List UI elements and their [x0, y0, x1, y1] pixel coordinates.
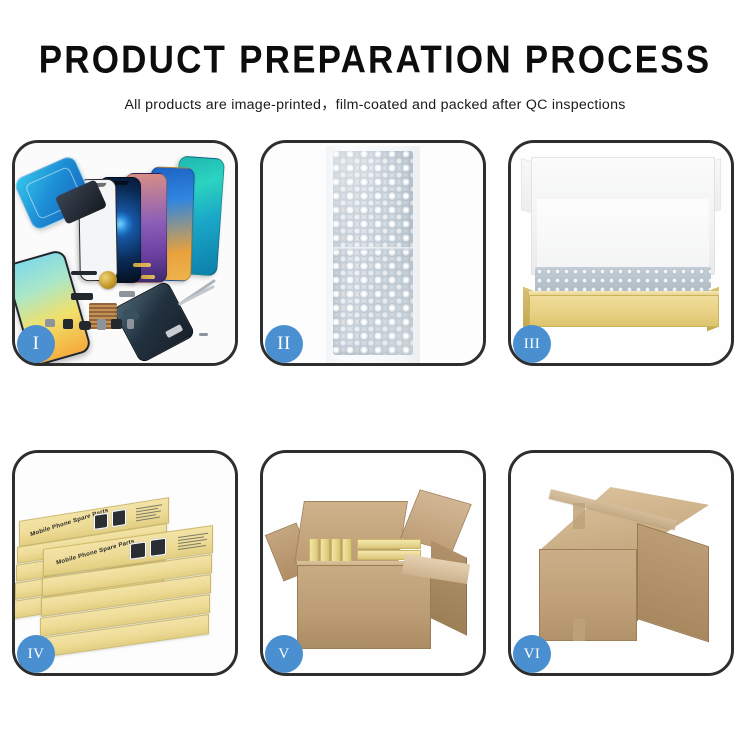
connector-strip-icon: [71, 293, 93, 300]
packing-tape-lower-seam-icon: [573, 619, 585, 641]
step-5-badge: V: [265, 635, 303, 673]
kraft-box-front-icon: [529, 295, 719, 327]
product-preparation-infographic: PRODUCT PREPARATION PROCESS All products…: [0, 0, 750, 750]
button-set-icon: [127, 319, 134, 329]
carton-front-panel-icon: [297, 565, 431, 649]
step-1-badge: I: [17, 325, 55, 363]
step-6-badge: VI: [513, 635, 551, 673]
earpiece-mesh-icon: [71, 271, 97, 275]
process-step-grid: I II: [12, 140, 738, 676]
sim-tray-icon: [97, 319, 106, 330]
page-title: PRODUCT PREPARATION PROCESS: [0, 38, 750, 83]
pouch-sheen: [333, 151, 413, 355]
process-step-3[interactable]: III: [508, 140, 734, 366]
process-step-5[interactable]: V: [260, 450, 486, 676]
process-step-1[interactable]: I: [12, 140, 238, 366]
header: PRODUCT PREPARATION PROCESS All products…: [0, 0, 750, 114]
step-2-badge: II: [265, 325, 303, 363]
box-art-phone-1a: [94, 513, 108, 530]
process-step-2[interactable]: II: [260, 140, 486, 366]
packing-tape-upper-seam-icon: [573, 503, 585, 529]
carton-right-panel-icon: [637, 523, 709, 642]
camera-module-icon: [119, 291, 135, 297]
box-art-phone-2a: [130, 541, 146, 559]
charging-port-icon: [111, 319, 122, 329]
screwdriver-bit-icon: [199, 333, 208, 336]
box-spec-lines-2: [178, 532, 210, 551]
phone-lineup: [87, 155, 235, 285]
vibrator-icon: [63, 319, 73, 329]
box-art-phone-1b: [112, 509, 126, 527]
step-4-badge: IV: [17, 635, 55, 673]
page-subtitle: All products are image-printed，film-coat…: [0, 94, 750, 114]
speaker-coil-icon: [99, 271, 117, 289]
process-step-4[interactable]: Mobile Phone Spare Parts Mobile Phone Sp…: [12, 450, 238, 676]
screw-set-icon: [45, 319, 55, 327]
volume-flex-cable-icon: [141, 275, 155, 279]
carton-front-face-icon: [539, 549, 637, 641]
taptic-engine-icon: [79, 321, 91, 330]
carton-corner-edge: [637, 549, 638, 621]
power-flex-cable-icon: [133, 263, 151, 267]
packed-box-5: [357, 539, 421, 549]
step-3-badge: III: [513, 325, 551, 363]
foam-sheet-icon: [537, 199, 709, 271]
carton-side-panel: [431, 540, 467, 636]
box-art-phone-2b: [150, 538, 166, 557]
bubble-wrap-pouch-icon: [333, 151, 413, 355]
process-step-6[interactable]: VI: [508, 450, 734, 676]
box-spec-lines-1: [136, 504, 164, 523]
